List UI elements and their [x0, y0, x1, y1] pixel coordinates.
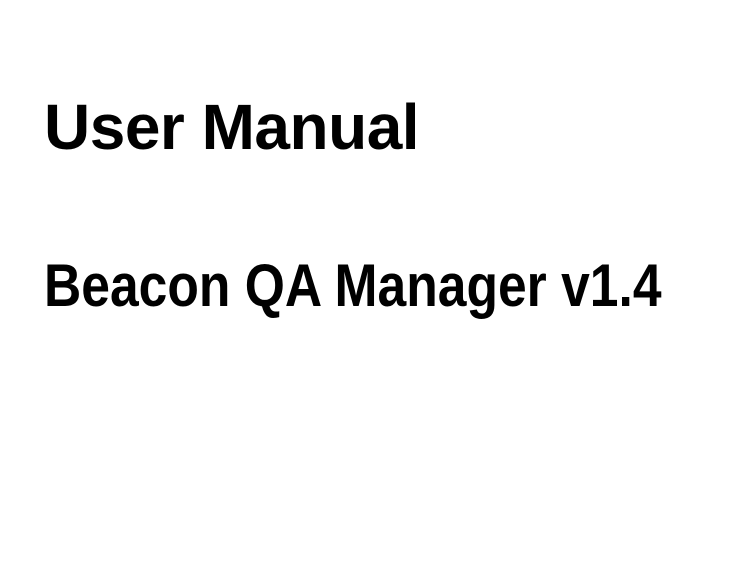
title-page: User Manual Beacon QA Manager v1.4	[0, 0, 742, 572]
product-version-heading: Beacon QA Manager v1.4	[44, 258, 612, 314]
document-type-heading: User Manual	[44, 96, 704, 158]
title-spacer	[44, 158, 704, 258]
title-block: User Manual Beacon QA Manager v1.4	[44, 96, 704, 314]
page-body-empty-area	[44, 340, 698, 548]
